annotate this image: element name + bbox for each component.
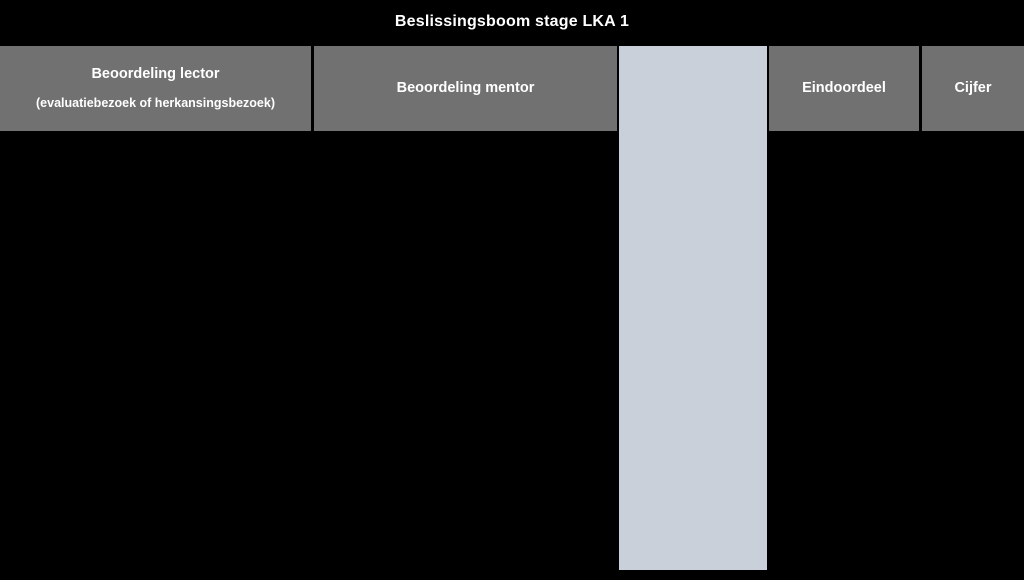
column-header-cijfer-title: Cijfer [954,79,991,98]
column-header-lector-subtitle: (evaluatiebezoek of herkansingsbezoek) [36,95,275,112]
page-title: Beslissingsboom stage LKA 1 [0,12,1024,32]
column-header-mentor[interactable]: Beoordeling mentor [314,46,617,131]
column-header-mentor-title: Beoordeling mentor [397,79,535,98]
column-header-lector-title: Beoordeling lector [91,65,219,84]
column-header-eindoordeel[interactable]: Eindoordeel [769,46,919,131]
column-header-row: Beoordeling lector (evaluatiebezoek of h… [0,46,1024,131]
column-header-lector[interactable]: Beoordeling lector (evaluatiebezoek of h… [0,46,311,131]
column-header-cijfer[interactable]: Cijfer [922,46,1024,131]
diagram-body-canvas [0,131,1024,580]
column-header-eindoordeel-title: Eindoordeel [802,79,886,98]
